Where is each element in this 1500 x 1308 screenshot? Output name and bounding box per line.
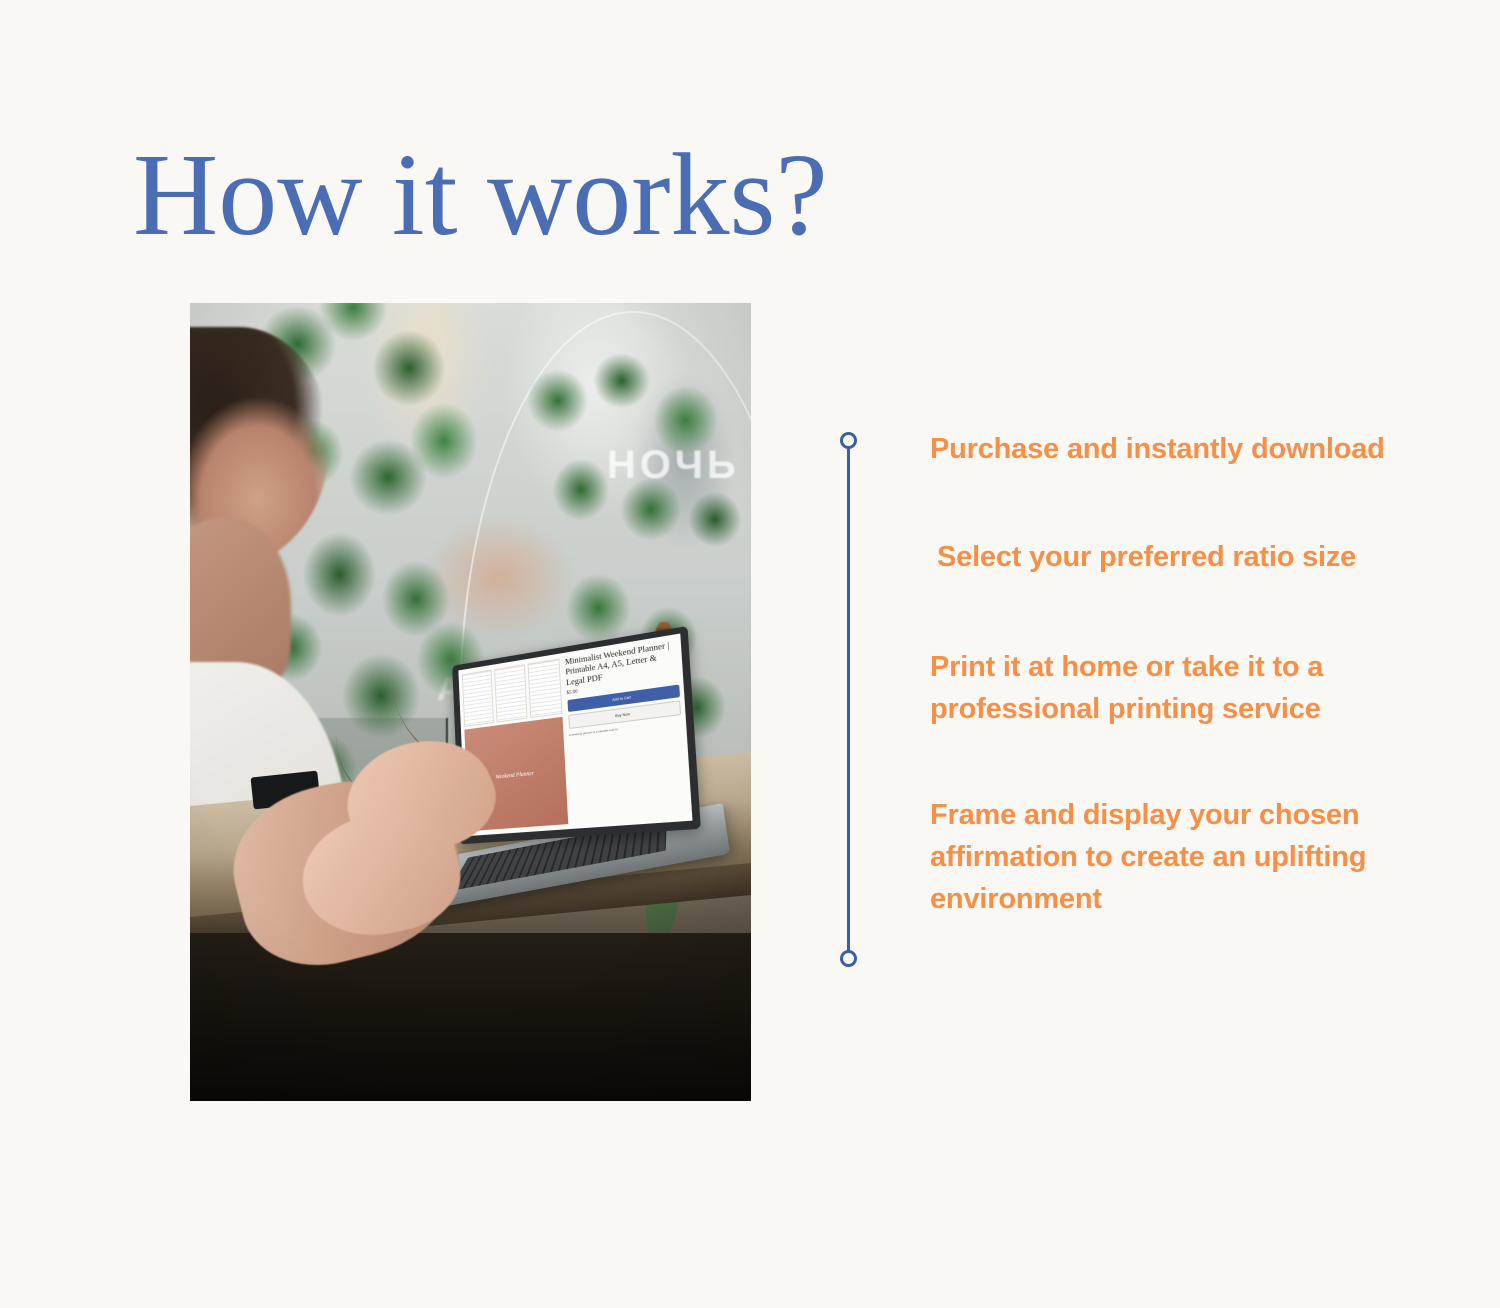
- timeline-line: [847, 442, 850, 958]
- steps-list: Purchase and instantly download Select y…: [930, 428, 1430, 920]
- product-thumbnail-row: [462, 658, 562, 727]
- timeline-start-dot-icon: [840, 432, 857, 449]
- hero-photo: НОЧЬ АТМОСФЕРА: [190, 303, 751, 1101]
- page-title: How it works?: [133, 136, 828, 254]
- step-item-1: Purchase and instantly download: [930, 428, 1430, 470]
- step-item-2: Select your preferred ratio size: [930, 536, 1430, 578]
- product-thumbnail: [462, 669, 494, 727]
- product-thumbnail: [527, 658, 562, 718]
- desk-under-shadow: [190, 933, 751, 1101]
- timeline-end-dot-icon: [840, 950, 857, 967]
- product-details: Minimalist Weekend Planner | Printable A…: [562, 633, 692, 829]
- step-item-3: Print it at home or take it to a profess…: [930, 646, 1430, 730]
- product-thumbnail: [494, 664, 527, 723]
- photo-scene: НОЧЬ АТМОСФЕРА: [190, 303, 751, 1101]
- step-item-4: Frame and display your chosen affirmatio…: [930, 794, 1430, 920]
- steps-timeline: [838, 432, 862, 968]
